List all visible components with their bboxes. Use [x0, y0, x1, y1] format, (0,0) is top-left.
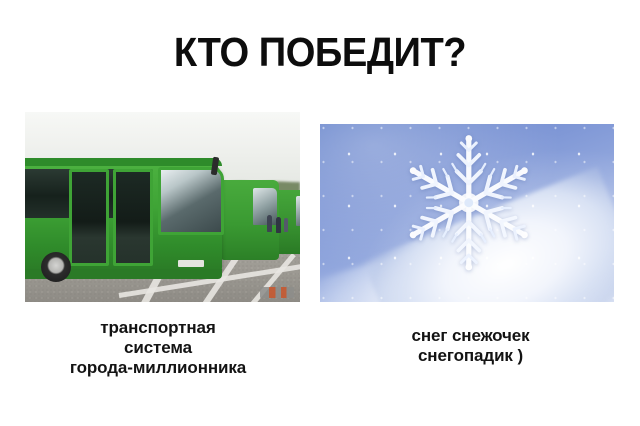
caption-right-line-1: снег снежочек	[348, 326, 593, 346]
caption-left: транспортная система города-миллионника	[18, 318, 298, 378]
snowflake-photo	[320, 124, 614, 302]
bus-roof	[25, 158, 222, 166]
watermark-logo	[260, 287, 294, 298]
bus-door	[113, 169, 153, 265]
bus-windshield	[253, 188, 277, 225]
bus-foreground	[25, 163, 222, 273]
caption-right: снег снежочек снегопадик )	[348, 326, 593, 366]
bus-windshield	[158, 167, 224, 235]
caption-left-line-2: система	[18, 338, 298, 358]
page-title: КТО ПОБЕДИТ?	[22, 30, 617, 74]
person-figure	[267, 215, 272, 232]
meme-image: КТО ПОБЕДИТ?	[0, 0, 640, 426]
caption-right-line-2: снегопадик )	[348, 346, 593, 366]
bus-license-plate	[178, 260, 204, 267]
snowflake-icon	[385, 128, 553, 278]
person-figure	[276, 217, 281, 233]
bus-windshield	[296, 196, 300, 226]
caption-left-line-1: транспортная	[18, 318, 298, 338]
caption-left-line-3: города-миллионника	[18, 358, 298, 378]
person-figure	[284, 218, 288, 232]
green-buses-photo	[25, 112, 300, 302]
bus-door	[69, 169, 109, 265]
